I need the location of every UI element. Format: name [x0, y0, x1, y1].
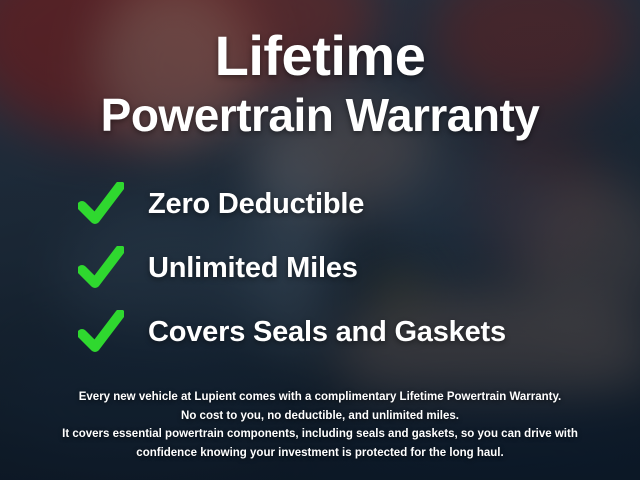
- page-title: Lifetime Powertrain Warranty: [0, 28, 640, 138]
- feature-label-covers-seals-and-gaskets: Covers Seals and Gaskets: [148, 316, 506, 349]
- green-check-icon: [78, 246, 124, 290]
- banner-content: Lifetime Powertrain Warranty Zero Deduct…: [0, 0, 640, 480]
- feature-label-zero-deductible: Zero Deductible: [148, 188, 364, 221]
- disclaimer-line-4: confidence knowing your investment is pr…: [34, 444, 606, 463]
- feature-list: Zero Deductible Unlimited Miles Covers S…: [78, 172, 600, 364]
- green-check-icon: [78, 182, 124, 226]
- headline-line-1: Lifetime: [0, 28, 640, 84]
- headline-line-2: Powertrain Warranty: [0, 92, 640, 138]
- list-item: Covers Seals and Gaskets: [78, 300, 600, 364]
- list-item: Unlimited Miles: [78, 236, 600, 300]
- disclaimer-line-2: No cost to you, no deductible, and unlim…: [34, 407, 606, 426]
- feature-label-unlimited-miles: Unlimited Miles: [148, 252, 358, 285]
- green-check-icon: [78, 310, 124, 354]
- disclaimer-line-3: It covers essential powertrain component…: [34, 425, 606, 444]
- disclaimer-line-1: Every new vehicle at Lupient comes with …: [34, 388, 606, 407]
- disclaimer-text: Every new vehicle at Lupient comes with …: [34, 388, 606, 463]
- lifetime-powertrain-warranty-banner: Lifetime Powertrain Warranty Zero Deduct…: [0, 0, 640, 480]
- list-item: Zero Deductible: [78, 172, 600, 236]
